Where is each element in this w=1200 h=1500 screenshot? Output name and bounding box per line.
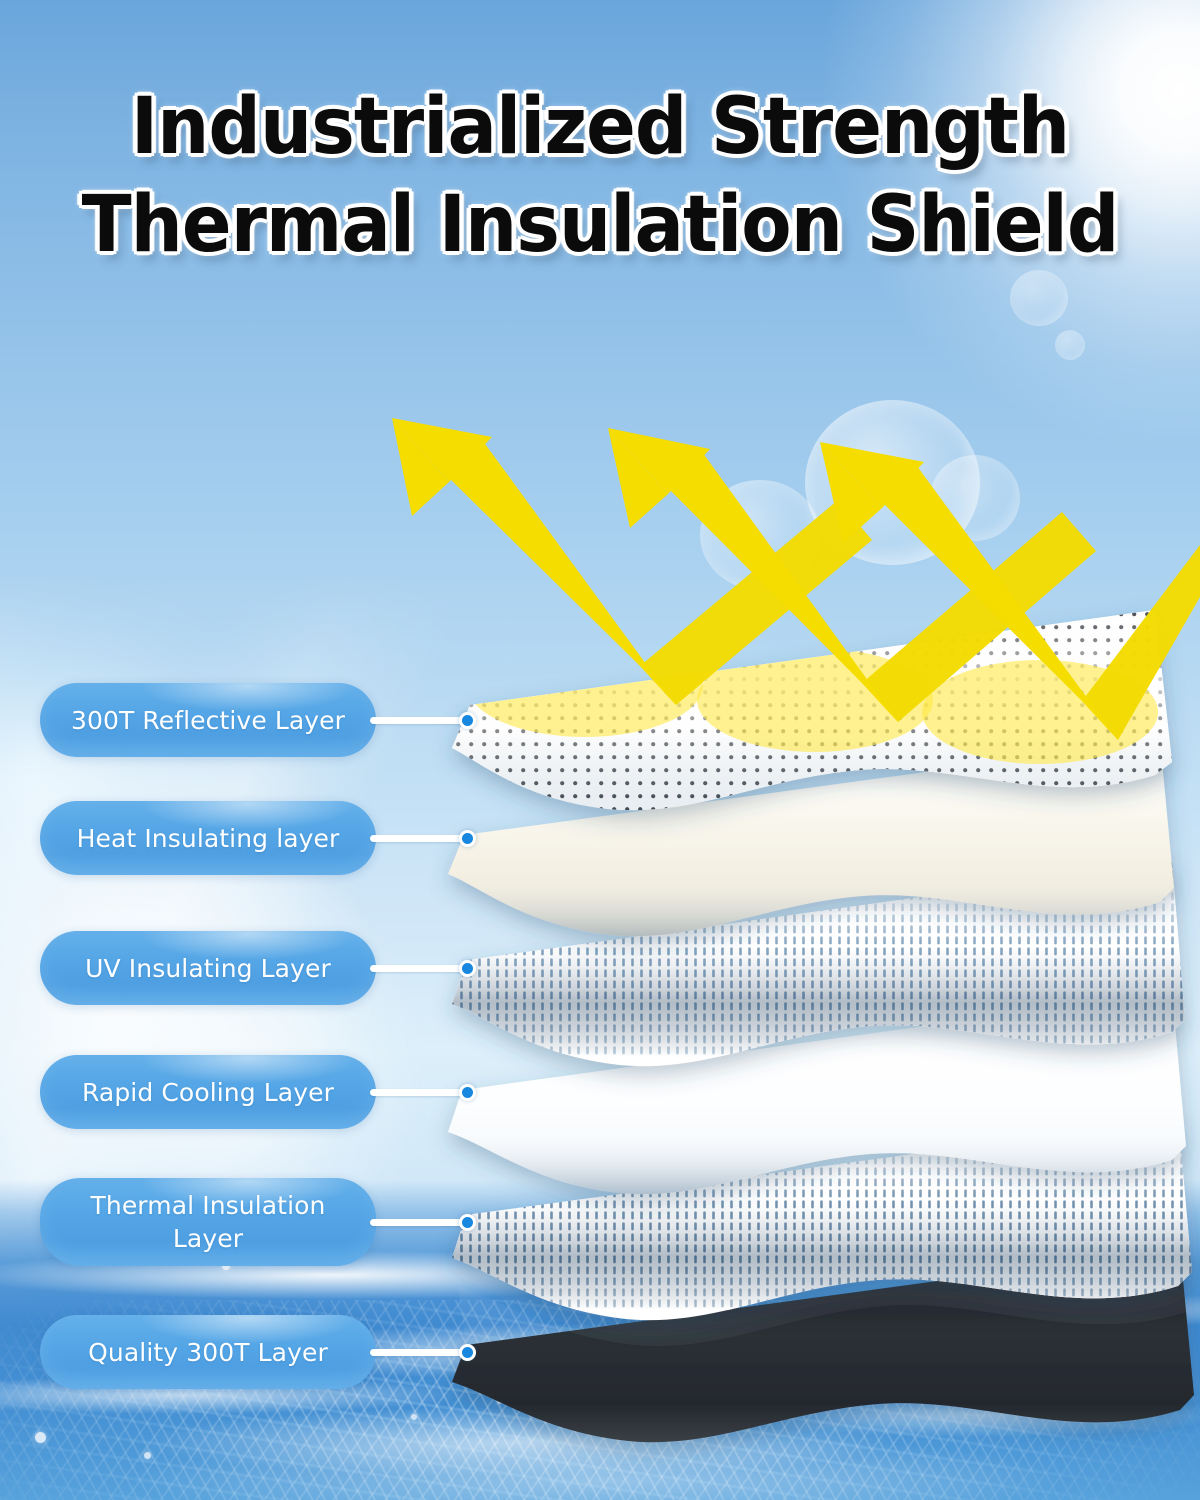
callout-quality-300t-layer[interactable]: Quality 300T Layer [40, 1315, 466, 1389]
leader-line-heat-insulating-layer [370, 835, 466, 842]
callout-uv-insulating-layer[interactable]: UV Insulating Layer [40, 931, 466, 1005]
pill-label-rapid-cooling-layer[interactable]: Rapid Cooling Layer [40, 1055, 376, 1129]
callout-rapid-cooling-layer[interactable]: Rapid Cooling Layer [40, 1055, 466, 1129]
connector-dot-icon [459, 1084, 476, 1101]
callout-reflective-layer[interactable]: 300T Reflective Layer [40, 683, 466, 757]
callout-heat-insulating-layer[interactable]: Heat Insulating layer [40, 801, 466, 875]
pill-label-quality-300t-layer[interactable]: Quality 300T Layer [40, 1315, 376, 1389]
pill-label-heat-insulating-layer[interactable]: Heat Insulating layer [40, 801, 376, 875]
leader-line-reflective-layer [370, 717, 466, 724]
connector-dot-icon [459, 712, 476, 729]
connector-dot-icon [459, 1344, 476, 1361]
leader-line-uv-insulating-layer [370, 965, 466, 972]
leader-line-rapid-cooling-layer [370, 1089, 466, 1096]
leader-line-thermal-insulation-layer [370, 1219, 466, 1226]
pill-label-uv-insulating-layer[interactable]: UV Insulating Layer [40, 931, 376, 1005]
pill-label-thermal-insulation-layer[interactable]: Thermal Insulation Layer [40, 1178, 376, 1266]
callout-thermal-insulation-layer[interactable]: Thermal Insulation Layer [40, 1178, 466, 1266]
connector-dot-icon [459, 960, 476, 977]
pill-label-reflective-layer[interactable]: 300T Reflective Layer [40, 683, 376, 757]
infographic-poster: Industrialized Strength Thermal Insulati… [0, 0, 1200, 1500]
leader-line-quality-300t-layer [370, 1349, 466, 1356]
callout-list: 300T Reflective Layer Heat Insulating la… [0, 0, 1200, 1500]
connector-dot-icon [459, 830, 476, 847]
connector-dot-icon [459, 1214, 476, 1231]
